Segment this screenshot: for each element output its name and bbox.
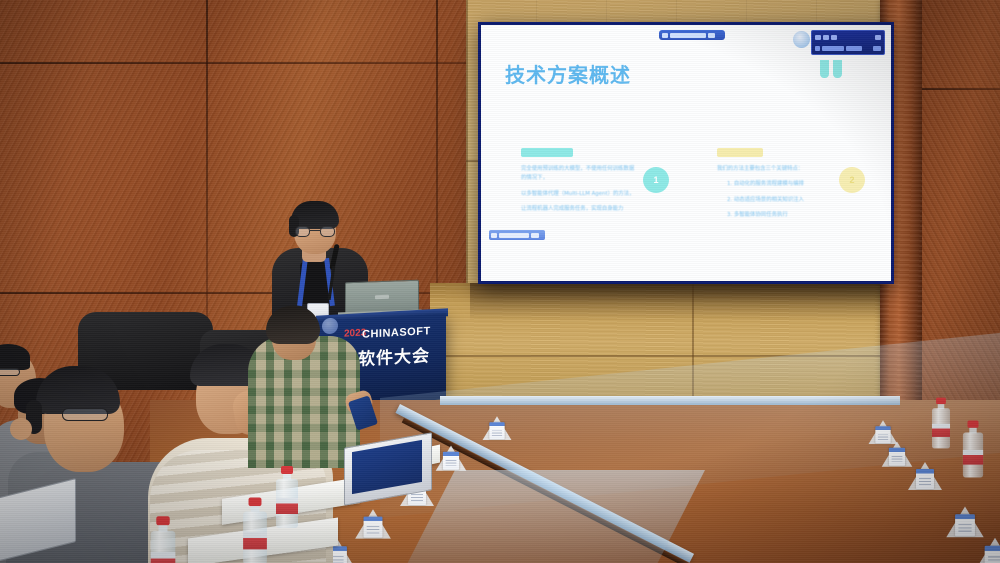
minimize-icon[interactable] [815, 35, 821, 40]
volume-icon[interactable] [873, 46, 881, 51]
lens-right [320, 226, 335, 237]
toolbar-label [670, 33, 706, 38]
bottle-label [243, 532, 267, 549]
name-card [916, 469, 934, 489]
left-paragraph-2: 以多智能体代理（Multi-LLM Agent）的方法， [521, 190, 635, 199]
quote-decoration [820, 61, 829, 78]
wall-seam [436, 0, 438, 300]
fullscreen-icon[interactable] [531, 233, 539, 238]
lens-left [295, 226, 310, 237]
chip-teal [521, 148, 573, 157]
toolbar-icon-share[interactable] [708, 33, 715, 38]
play-icon[interactable] [491, 233, 497, 238]
name-card [443, 452, 459, 470]
presentation-screen: 技术方案概述 [478, 22, 894, 284]
presentation-toolbar[interactable] [659, 30, 725, 40]
right-item-2: 2. 动态适应场景的相关知识注入 [727, 196, 831, 205]
slide-progress[interactable] [499, 233, 529, 238]
name-card-holder [436, 446, 467, 473]
wall-seam [922, 88, 1000, 90]
right-item-3: 3. 多智能体协同任务执行 [727, 211, 831, 220]
wall-seam [206, 0, 208, 330]
eyeglasses-icon [0, 368, 20, 376]
water-bottle [151, 516, 176, 563]
glasses-bridge [310, 230, 320, 231]
table-front-lip [440, 396, 900, 405]
audience-hair-a5 [266, 306, 320, 344]
floating-window-bar[interactable] [811, 30, 885, 55]
name-card-holder [483, 416, 512, 442]
name-card-holder [355, 509, 391, 541]
badge-number-2: 2 [839, 167, 865, 193]
window-bar-label-2 [846, 46, 862, 51]
water-bottle [932, 398, 950, 449]
window-bar-label-1 [822, 46, 844, 51]
slide-canvas: 技术方案概述 [481, 25, 891, 281]
name-card [985, 546, 1000, 563]
slide-playback-controls[interactable] [489, 230, 545, 240]
toolbar-icon-signal[interactable] [662, 33, 668, 38]
eyeglasses-icon [62, 408, 108, 421]
bottle-label [963, 450, 983, 465]
wall-seam [0, 62, 466, 64]
table-front-face [407, 470, 705, 563]
slide-right-column: 我们的方法主要包含三个关键特点： 1. 自动化的服务流程建模与编排 2. 动态适… [717, 165, 831, 227]
left-paragraph-1: 完全使用预训练的大模型，不使用任何训练数据的情况下， [521, 165, 635, 184]
water-bottle [243, 498, 267, 563]
right-heading: 我们的方法主要包含三个关键特点： [717, 165, 831, 174]
name-card-holder [908, 462, 942, 492]
bottle-cap [281, 466, 293, 474]
menu-icon[interactable] [875, 35, 881, 40]
water-bottle [963, 420, 983, 477]
badge-number-1: 1 [643, 167, 669, 193]
quote-decoration [833, 61, 842, 78]
screenshot-root: 技术方案概述 [0, 0, 1000, 563]
name-card [489, 422, 504, 439]
bottle-cap [249, 498, 262, 507]
name-card [364, 517, 383, 538]
bottle-cap [156, 516, 169, 525]
bottle-label [276, 498, 298, 514]
right-item-1: 1. 自动化的服务流程建模与编排 [727, 180, 831, 189]
water-bottle [276, 466, 298, 528]
slide-title: 技术方案概述 [505, 59, 631, 88]
presenter-hair [291, 201, 339, 229]
wall-shadow [470, 283, 900, 321]
slide-left-column: 完全使用预训练的大模型，不使用任何训练数据的情况下， 以多智能体代理（Multi… [521, 165, 635, 221]
name-card [955, 514, 975, 536]
bottle-cap [967, 420, 978, 427]
bottle-label [932, 424, 950, 437]
maximize-icon[interactable] [823, 35, 829, 40]
eyeglasses-icon [295, 226, 335, 237]
globe-icon [793, 31, 810, 48]
name-card-holder [975, 538, 1000, 563]
name-card-holder [946, 507, 983, 540]
name-card [889, 448, 905, 466]
pin-icon[interactable] [815, 46, 820, 51]
bottle-label [151, 552, 176, 563]
audience-ear-a3 [10, 418, 32, 440]
left-paragraph-3: 让流程机器人完成服务任务，实现自身能力 [521, 205, 635, 214]
chip-yellow [717, 148, 763, 157]
close-icon[interactable] [831, 35, 837, 40]
